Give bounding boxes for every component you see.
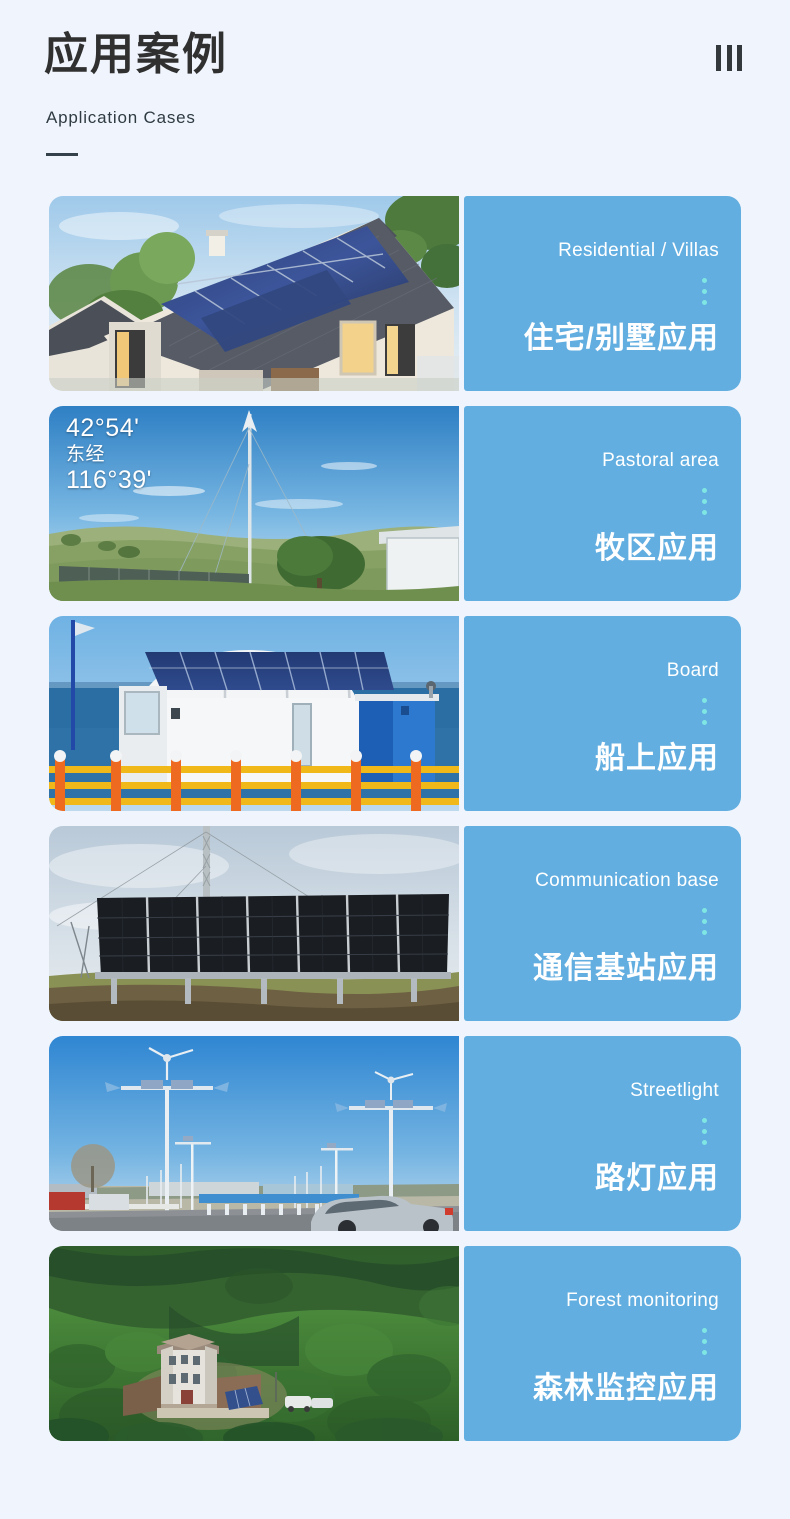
case-photo-board xyxy=(49,616,459,811)
case-panel: Forest monitoring 森林监控应用 xyxy=(464,1246,741,1441)
case-card[interactable]: Streetlight 路灯应用 xyxy=(49,1036,741,1231)
case-label-en: Residential / Villas xyxy=(558,240,719,262)
vertical-dots-icon xyxy=(702,1118,707,1145)
case-photo-residential xyxy=(49,196,459,391)
case-card[interactable]: 42°54' 东经 116°39' Pastoral area 牧区应用 xyxy=(49,406,741,601)
case-card[interactable]: Forest monitoring 森林监控应用 xyxy=(49,1246,741,1441)
case-card[interactable]: Residential / Villas 住宅/别墅应用 xyxy=(49,196,741,391)
overlay-line-3: 116°39' xyxy=(66,466,152,496)
vertical-dots-icon xyxy=(702,698,707,725)
case-label-en: Forest monitoring xyxy=(566,1290,719,1312)
application-cases-page: 应用案例 Application Cases xyxy=(0,0,790,1519)
case-label-cn: 牧区应用 xyxy=(595,523,719,567)
case-photo-pastoral: 42°54' 东经 116°39' xyxy=(49,406,459,601)
page-header: 应用案例 Application Cases xyxy=(0,0,790,196)
case-label-en: Streetlight xyxy=(630,1080,719,1102)
case-photo-streetlight xyxy=(49,1036,459,1231)
overlay-line-2: 东经 xyxy=(66,444,152,466)
case-panel: Board 船上应用 xyxy=(464,616,741,811)
case-label-en: Communication base xyxy=(535,870,719,892)
case-label-cn: 通信基站应用 xyxy=(533,943,719,987)
page-title: 应用案例 xyxy=(44,30,228,81)
case-card[interactable]: Communication base 通信基站应用 xyxy=(49,826,741,1021)
case-panel: Communication base 通信基站应用 xyxy=(464,826,741,1021)
case-panel: Residential / Villas 住宅/别墅应用 xyxy=(464,196,741,391)
case-card-list: Residential / Villas 住宅/别墅应用 xyxy=(0,196,790,1456)
menu-bars-icon[interactable] xyxy=(716,45,742,73)
case-label-cn: 船上应用 xyxy=(595,733,719,777)
overlay-line-1: 42°54' xyxy=(66,414,152,444)
page-subtitle: Application Cases xyxy=(46,108,196,128)
vertical-dots-icon xyxy=(702,908,707,935)
case-panel: Streetlight 路灯应用 xyxy=(464,1036,741,1231)
photo-coordinate-overlay: 42°54' 东经 116°39' xyxy=(66,414,152,495)
vertical-dots-icon xyxy=(702,488,707,515)
case-photo-forest-monitoring xyxy=(49,1246,459,1441)
case-label-en: Pastoral area xyxy=(602,450,719,472)
vertical-dots-icon xyxy=(702,1328,707,1355)
case-label-cn: 森林监控应用 xyxy=(533,1363,719,1407)
title-divider xyxy=(46,153,78,156)
vertical-dots-icon xyxy=(702,278,707,305)
case-panel: Pastoral area 牧区应用 xyxy=(464,406,741,601)
case-card[interactable]: Board 船上应用 xyxy=(49,616,741,811)
case-label-cn: 路灯应用 xyxy=(595,1153,719,1197)
case-label-en: Board xyxy=(667,660,719,682)
case-photo-communication-base xyxy=(49,826,459,1021)
case-label-cn: 住宅/别墅应用 xyxy=(524,313,719,357)
